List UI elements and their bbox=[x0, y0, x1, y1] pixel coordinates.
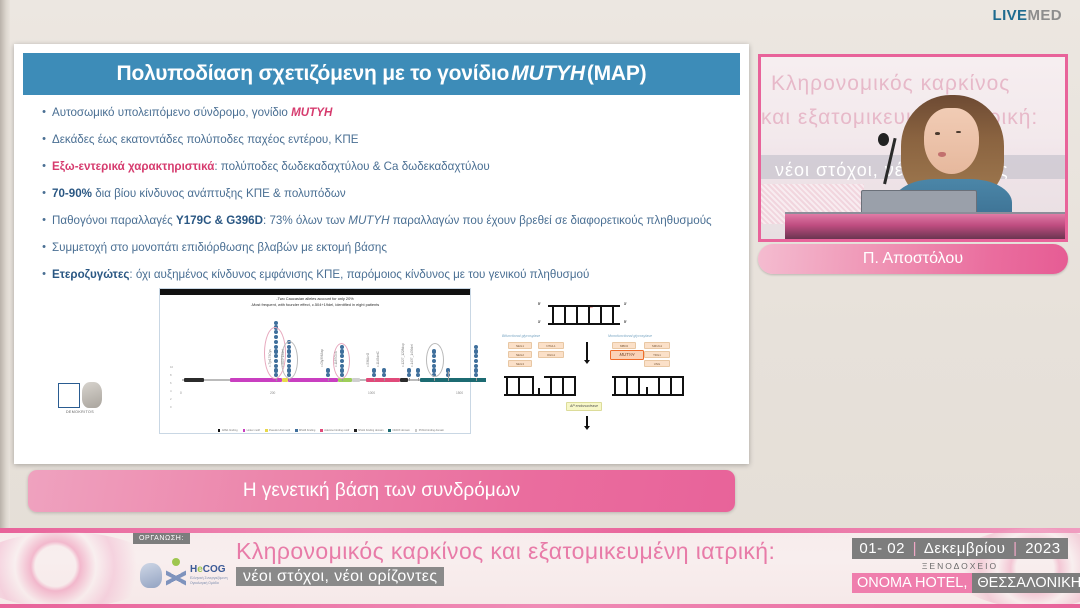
bullet-text-run: Αυτοσωμικό υπολειπόμενο σύνδρομο, γονίδι… bbox=[52, 106, 291, 119]
hecog-logo-cog: COG bbox=[203, 564, 226, 575]
gene-box: MBD4 bbox=[612, 342, 636, 349]
venue-city: ΘΕΣΣΑΛΟΝΙΚΗ bbox=[972, 573, 1080, 593]
bullet-text: 70-90% δια βίου κίνδυνος ανάπτυξης ΚΠΕ &… bbox=[52, 187, 737, 201]
slide-title-pre: Πολυποδίαση σχετιζόμενη με το γονίδιο bbox=[117, 62, 510, 86]
slide-title: Πολυποδίαση σχετιζόμενη με το γονίδιο MU… bbox=[23, 53, 740, 95]
event-date-venue-block: 01- 02 | Δεκεμβρίου | 2023 ΞΕΝΟΔΟΧΕΙΟ ON… bbox=[852, 538, 1068, 593]
event-title-line-2: νέοι στόχοι, νέοι ορίζοντες bbox=[236, 567, 444, 586]
diagram-label-monofunctional: Monofunctional glycosylase bbox=[608, 334, 652, 338]
speaker-eye bbox=[935, 132, 940, 135]
bullet-text: Συμμετοχή στο μονοπάτι επιδιόρθωσης βλαβ… bbox=[52, 241, 737, 255]
bullet-item: •Αυτοσωμικό υπολειπόμενο σύνδρομο, γονίδ… bbox=[36, 106, 737, 120]
bullet-marker-icon: • bbox=[36, 187, 52, 201]
variant-stack bbox=[407, 368, 411, 378]
chart-x-tick: 0 bbox=[180, 391, 182, 395]
hecog-logo-text: HeCOG Ελληνική Συνεργαζόμενη Ογκολογική … bbox=[190, 565, 232, 586]
speaker-video-frame: Κληρονομικός καρκίνος και εξατομικευμένη… bbox=[761, 57, 1065, 239]
pathway-arrow-stem bbox=[586, 342, 588, 362]
gene-box: NEIL1 bbox=[508, 342, 532, 349]
domain-segment bbox=[352, 378, 360, 382]
pathway-arrow-head bbox=[584, 360, 590, 364]
slide-title-gene: MUTYH bbox=[509, 62, 587, 86]
chart-legend-label: Linker motif bbox=[247, 429, 260, 432]
bullet-item: •Εξω-εντερικά χαρακτηριστικά: πολύποδες … bbox=[36, 160, 737, 174]
podium bbox=[785, 214, 1065, 239]
speaker-face bbox=[924, 108, 979, 174]
dna-duplex-top bbox=[548, 305, 620, 325]
bullet-text-run: Εξω-εντερικά χαρακτηριστικά bbox=[52, 160, 214, 173]
gene-box: NEIL2 bbox=[508, 351, 532, 358]
chart-legend-item: Pseudo HhH motif bbox=[265, 429, 290, 432]
event-date-month: Δεκεμβρίου bbox=[924, 540, 1006, 557]
chart-legend-swatch bbox=[388, 429, 391, 432]
hecog-logo-subtitle: Ελληνική Συνεργαζόμενη Ογκολογική Ομάδα bbox=[190, 576, 232, 585]
bullet-marker-icon: • bbox=[36, 106, 52, 120]
bullet-text: Παθογόνοι παραλλαγές Y179C & G396D: 73% … bbox=[52, 214, 737, 228]
event-date-year: 2023 bbox=[1025, 540, 1060, 557]
chart-y-tick: 0 bbox=[170, 405, 172, 409]
bullet-text-run: : πολύποδες δωδεκαδαχτύλου & Ca δωδεκαδα… bbox=[214, 160, 489, 173]
speaker-video-panel[interactable]: Κληρονομικός καρκίνος και εξατομικευμένη… bbox=[758, 54, 1068, 242]
bullet-text-run: Συμμετοχή στο μονοπάτι επιδιόρθωσης βλαβ… bbox=[52, 241, 387, 254]
chart-x-tick: 1500 bbox=[456, 391, 463, 395]
bullet-text-run: 70-90% bbox=[52, 187, 92, 200]
chart-legend-item: Adenine binding motif bbox=[320, 429, 349, 432]
slide-bullet-list: •Αυτοσωμικό υπολειπόμενο σύνδρομο, γονίδ… bbox=[36, 106, 737, 295]
chart-legend-swatch bbox=[320, 429, 323, 432]
bullet-marker-icon: • bbox=[36, 214, 52, 228]
chart-legend-label: NUDIX domain bbox=[392, 429, 409, 432]
chart-variant-label: c.1227_1228dup bbox=[401, 343, 405, 367]
livemed-logo: LIVEMED bbox=[993, 7, 1063, 24]
hecog-logo: HeCOG Ελληνική Συνεργαζόμενη Ογκολογική … bbox=[140, 548, 232, 602]
event-title-line-2-wrap: νέοι στόχοι, νέοι ορίζοντες bbox=[236, 568, 836, 586]
variant-lollipop-chart: -Two Caucasian alleles account for only … bbox=[159, 288, 471, 434]
bullet-marker-icon: • bbox=[36, 268, 52, 282]
chart-variant-label: c.504+19del bbox=[281, 350, 285, 367]
chart-y-tick: 8 bbox=[170, 373, 172, 377]
speaker-eye bbox=[956, 131, 961, 134]
domain-segment bbox=[288, 378, 338, 382]
bullet-item: •Δεκάδες έως εκατοντάδες πολύποδες παχέο… bbox=[36, 133, 737, 147]
event-date-separator-2: | bbox=[1010, 540, 1020, 557]
chart-legend-label: Pseudo HhH motif bbox=[269, 429, 290, 432]
bullet-marker-icon: • bbox=[36, 160, 52, 174]
bullet-text-run: παραλλαγών που έχουν βρεθεί σε διαφορετι… bbox=[390, 214, 712, 227]
gene-box: NTHL1 bbox=[538, 342, 564, 349]
domain-segment bbox=[400, 378, 408, 382]
chart-legend-swatch bbox=[415, 429, 418, 432]
demokritos-logo-caption: DEMOKRITOS bbox=[56, 410, 104, 414]
bullet-text-run: MUTYH bbox=[291, 106, 332, 119]
bullet-text-run: Παθογόνοι παραλλαγές bbox=[52, 214, 176, 227]
variant-stack bbox=[382, 368, 386, 378]
presentation-slide: Πολυποδίαση σχετιζόμενη με το γονίδιο MU… bbox=[14, 44, 749, 464]
livemed-logo-live: LIVE bbox=[993, 7, 1028, 24]
dna-5prime-label-left: 5' bbox=[538, 302, 541, 306]
slide-subtitle-pill: Η γενετική βάση των συνδρόμων bbox=[28, 470, 735, 512]
chart-caption: -Two Caucasian alleles account for only … bbox=[160, 296, 470, 308]
chart-variant-label: c.1187G>A bbox=[334, 351, 338, 367]
organizer-label: ΟΡΓΑΝΩΣΗ: bbox=[133, 533, 190, 544]
bullet-text: Αυτοσωμικό υπολειπόμενο σύνδρομο, γονίδι… bbox=[52, 106, 737, 120]
bullet-text-run: : όχι αυξημένος κίνδυνος εμφάνισης ΚΠΕ, … bbox=[129, 268, 589, 281]
dna-duplex-bottom-left bbox=[504, 376, 576, 396]
microphone-head-icon bbox=[878, 133, 889, 146]
gene-box: OGG1 bbox=[538, 351, 564, 358]
chart-variant-label: c.536A>G bbox=[366, 353, 370, 367]
chart-legend-label: PCNA binding domain bbox=[419, 429, 444, 432]
bullet-text-run: MUTYH bbox=[348, 214, 389, 227]
speaker-name-badge: Π. Αποστόλου bbox=[758, 244, 1068, 274]
bullet-text: Εξω-εντερικά χαρακτηριστικά: πολύποδες δ… bbox=[52, 160, 737, 174]
event-date-row: 01- 02 | Δεκεμβρίου | 2023 bbox=[852, 538, 1068, 559]
hecog-figure-icon bbox=[165, 558, 187, 592]
chart-legend-item: NSH1 binding domain bbox=[354, 429, 383, 432]
chart-variant-label: c.1437_1439del bbox=[410, 344, 414, 367]
chart-legend-swatch bbox=[265, 429, 268, 432]
demokritos-glyph-icon bbox=[58, 383, 80, 408]
bullet-item: •Παθογόνοι παραλλαγές Y179C & G396D: 73%… bbox=[36, 214, 737, 228]
chart-legend-label: APE1 binding bbox=[222, 429, 238, 432]
chart-legend-swatch bbox=[218, 429, 221, 432]
gene-box: TDG1 bbox=[644, 351, 670, 358]
gene-box-mutyh-highlight: MUTYH bbox=[610, 350, 644, 360]
backdrop-text-line-1: Κληρονομικός καρκίνος bbox=[771, 72, 1010, 96]
event-date-separator-1: | bbox=[910, 540, 920, 557]
chart-legend-item: PCNA binding domain bbox=[415, 429, 444, 432]
dna-duplex-bottom-right bbox=[612, 376, 684, 396]
bullet-text-run: Δεκάδες έως εκατοντάδες πολύποδες παχέος… bbox=[52, 133, 359, 146]
bullet-text-run: Ετεροζυγώτες bbox=[52, 268, 129, 281]
gene-box: SMUG1 bbox=[644, 342, 670, 349]
ber-pathway-diagram: 5' 3' 3' 5' X Bifunctional glycosylase M… bbox=[486, 290, 714, 434]
variant-stack bbox=[474, 345, 478, 378]
banner-bottom-rule bbox=[0, 604, 1080, 608]
chart-y-tick: 2 bbox=[170, 397, 172, 401]
chart-legend-item: Linker motif bbox=[243, 429, 260, 432]
gene-box: UNG bbox=[644, 360, 670, 367]
chart-variant-label: c.1145delC bbox=[376, 351, 380, 367]
speaker-mouth bbox=[938, 152, 946, 157]
app-stage: LIVEMED Πολυποδίαση σχετιζόμενη με το γο… bbox=[0, 0, 1080, 608]
variant-stack bbox=[446, 368, 450, 378]
dna-3prime-label-right: 3' bbox=[624, 302, 627, 306]
chart-legend-label: Adenine binding motif bbox=[324, 429, 349, 432]
bullet-item: •70-90% δια βίου κίνδυνος ανάπτυξης ΚΠΕ … bbox=[36, 187, 737, 201]
chart-legend-label: NSH1 binding domain bbox=[358, 429, 383, 432]
chart-legend-item: NUDIX domain bbox=[388, 429, 409, 432]
chart-legend-item: APE1 binding bbox=[218, 429, 238, 432]
chart-caption-line-2: -Most frequent, with founder effect, c.5… bbox=[160, 302, 470, 308]
slide-figure: DEMOKRITOS -Two Caucasian alleles accoun… bbox=[54, 288, 739, 440]
venue-row: ONOMA HOTEL, ΘΕΣΣΑΛΟΝΙΚΗ bbox=[852, 573, 1068, 593]
slide-title-post: (MAP) bbox=[587, 62, 647, 86]
gene-box: NEIL3 bbox=[508, 360, 532, 367]
livemed-logo-med: MED bbox=[1027, 7, 1062, 24]
bullet-text-run: Y179C & G396D bbox=[176, 214, 263, 227]
chart-plot-area: 10 8 6 4 2 0 bbox=[168, 321, 464, 407]
chart-legend-swatch bbox=[243, 429, 246, 432]
chart-legend-swatch bbox=[295, 429, 298, 432]
dna-3prime-label-left: 3' bbox=[538, 320, 541, 324]
domain-segment bbox=[420, 378, 494, 382]
variant-annotation-oval bbox=[426, 343, 444, 377]
bullet-text: Ετεροζυγώτες: όχι αυξημένος κίνδυνος εμφ… bbox=[52, 268, 737, 282]
variant-stack bbox=[416, 368, 420, 378]
chart-y-tick: 10 bbox=[170, 365, 173, 369]
bullet-text-run: : 73% όλων των bbox=[263, 214, 348, 227]
chart-variant-label: c.Gly396Asp bbox=[320, 349, 324, 367]
chart-legend-label: MSH6 binding bbox=[299, 429, 315, 432]
bullet-item: •Συμμετοχή στο μονοπάτι επιδιόρθωσης βλα… bbox=[36, 241, 737, 255]
domain-segment bbox=[184, 378, 204, 382]
chart-x-tick: 200 bbox=[270, 391, 275, 395]
event-title-block: Κληρονομικός καρκίνος και εξατομικευμένη… bbox=[236, 538, 836, 586]
chart-legend-item: MSH6 binding bbox=[295, 429, 315, 432]
event-title-line-1: Κληρονομικός καρκίνος και εξατομικευμένη… bbox=[236, 538, 836, 565]
chart-legend: APE1 bindingLinker motifPseudo HhH motif… bbox=[200, 429, 462, 432]
pathway-arrow-head bbox=[584, 426, 590, 430]
chart-top-bar bbox=[160, 289, 470, 295]
event-date-day: 01- 02 bbox=[859, 540, 905, 557]
chart-y-tick: 4 bbox=[170, 389, 172, 393]
bullet-marker-icon: • bbox=[36, 241, 52, 255]
demokritos-logo: DEMOKRITOS bbox=[56, 382, 104, 414]
hecog-mask-icon bbox=[140, 563, 162, 588]
diagram-label-bifunctional: Bifunctional glycosylase bbox=[502, 334, 540, 338]
venue-name: ONOMA HOTEL, bbox=[852, 573, 972, 593]
variant-stack bbox=[372, 368, 376, 378]
demokritos-bust-icon bbox=[82, 382, 102, 408]
bullet-text: Δεκάδες έως εκατοντάδες πολύποδες παχέος… bbox=[52, 133, 737, 147]
chart-variant-label: c.Tyr179Cys bbox=[268, 349, 272, 367]
variant-stack bbox=[326, 368, 330, 378]
chart-y-tick: 6 bbox=[170, 381, 172, 385]
chart-legend-swatch bbox=[354, 429, 357, 432]
venue-label: ΞΕΝΟΔΟΧΕΙΟ bbox=[852, 561, 1068, 571]
bullet-text-run: δια βίου κίνδυνος ανάπτυξης ΚΠΕ & πολυπό… bbox=[92, 187, 346, 200]
dna-5prime-label-right: 5' bbox=[624, 320, 627, 324]
bullet-marker-icon: • bbox=[36, 133, 52, 147]
chart-x-tick: 1000 bbox=[368, 391, 375, 395]
ap-endonuclease-label: AP endonuclease bbox=[566, 402, 602, 411]
bullet-item: •Ετεροζυγώτες: όχι αυξημένος κίνδυνος εμ… bbox=[36, 268, 737, 282]
